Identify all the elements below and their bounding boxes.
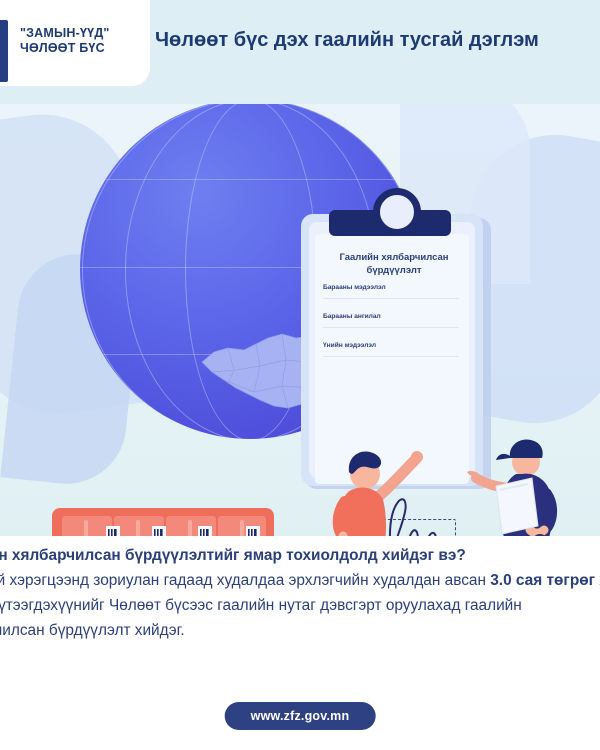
- clipboard-title: Гаалийн хялбарчилсан бүрдүүлэлт: [319, 252, 469, 277]
- person-signing-illustration: [327, 444, 437, 536]
- illustration-panel: Гаалийн хялбарчилсан бүрдүүлэлт Барааны …: [0, 104, 600, 536]
- clipboard-field-goods-info: Барааны мэдээлэл: [323, 284, 463, 291]
- body-line-2: Хувь хүний хэрэгцээнд зориулан гадаад ху…: [0, 571, 600, 591]
- logo-line-1: "ЗАМЫН-ҮҮД": [20, 26, 110, 40]
- logo-mark-icon: [0, 20, 8, 82]
- infographic-page: "ЗАМЫН-ҮҮД" ЧӨЛӨӨТ БҮС Чөлөөт бүс дэх га…: [0, 0, 600, 750]
- organization-logo-card: "ЗАМЫН-ҮҮД" ЧӨЛӨӨТ БҮС: [0, 0, 150, 86]
- body-amount-value: 3.0 сая төгрөг: [490, 572, 595, 589]
- clipboard-field-goods-classification: Барааны ангилал: [323, 313, 463, 320]
- person-with-documents-illustration: [466, 434, 584, 536]
- website-url-pill[interactable]: www.zfz.gov.mn: [225, 702, 376, 730]
- cargo-truck-illustration: [52, 502, 342, 536]
- body-line-4: хялбарчилсан бүрдүүлэлт хийдэг.: [0, 621, 185, 641]
- header-band: "ЗАМЫН-ҮҮД" ЧӨЛӨӨТ БҮС Чөлөөт бүс дэх га…: [0, 0, 600, 104]
- body-question-line: Гаалийн хялбарчилсан бүрдүүлэлтийг ямар …: [0, 546, 466, 566]
- body-text-block: Гаалийн хялбарчилсан бүрдүүлэлтийг ямар …: [0, 540, 600, 650]
- body-line-2-after: хүртэл үнийн дүнтэй: [595, 572, 600, 589]
- logo-line-2: ЧӨЛӨӨТ БҮС: [20, 41, 110, 56]
- body-line-2-before: Хувь хүний хэрэгцээнд зориулан гадаад ху…: [0, 572, 490, 589]
- body-line-3: бараа, бүтээгдэхүүнийг Чөлөөт бүсээс гаа…: [0, 596, 522, 616]
- logo-text: "ЗАМЫН-ҮҮД" ЧӨЛӨӨТ БҮС: [20, 26, 110, 56]
- clipboard-field-price-info: Үнийн мэдээлэл: [323, 342, 463, 349]
- page-title: Чөлөөт бүс дэх гаалийн тусгай дэглэм: [155, 27, 555, 54]
- clipboard-clip-ring-icon: [373, 188, 421, 236]
